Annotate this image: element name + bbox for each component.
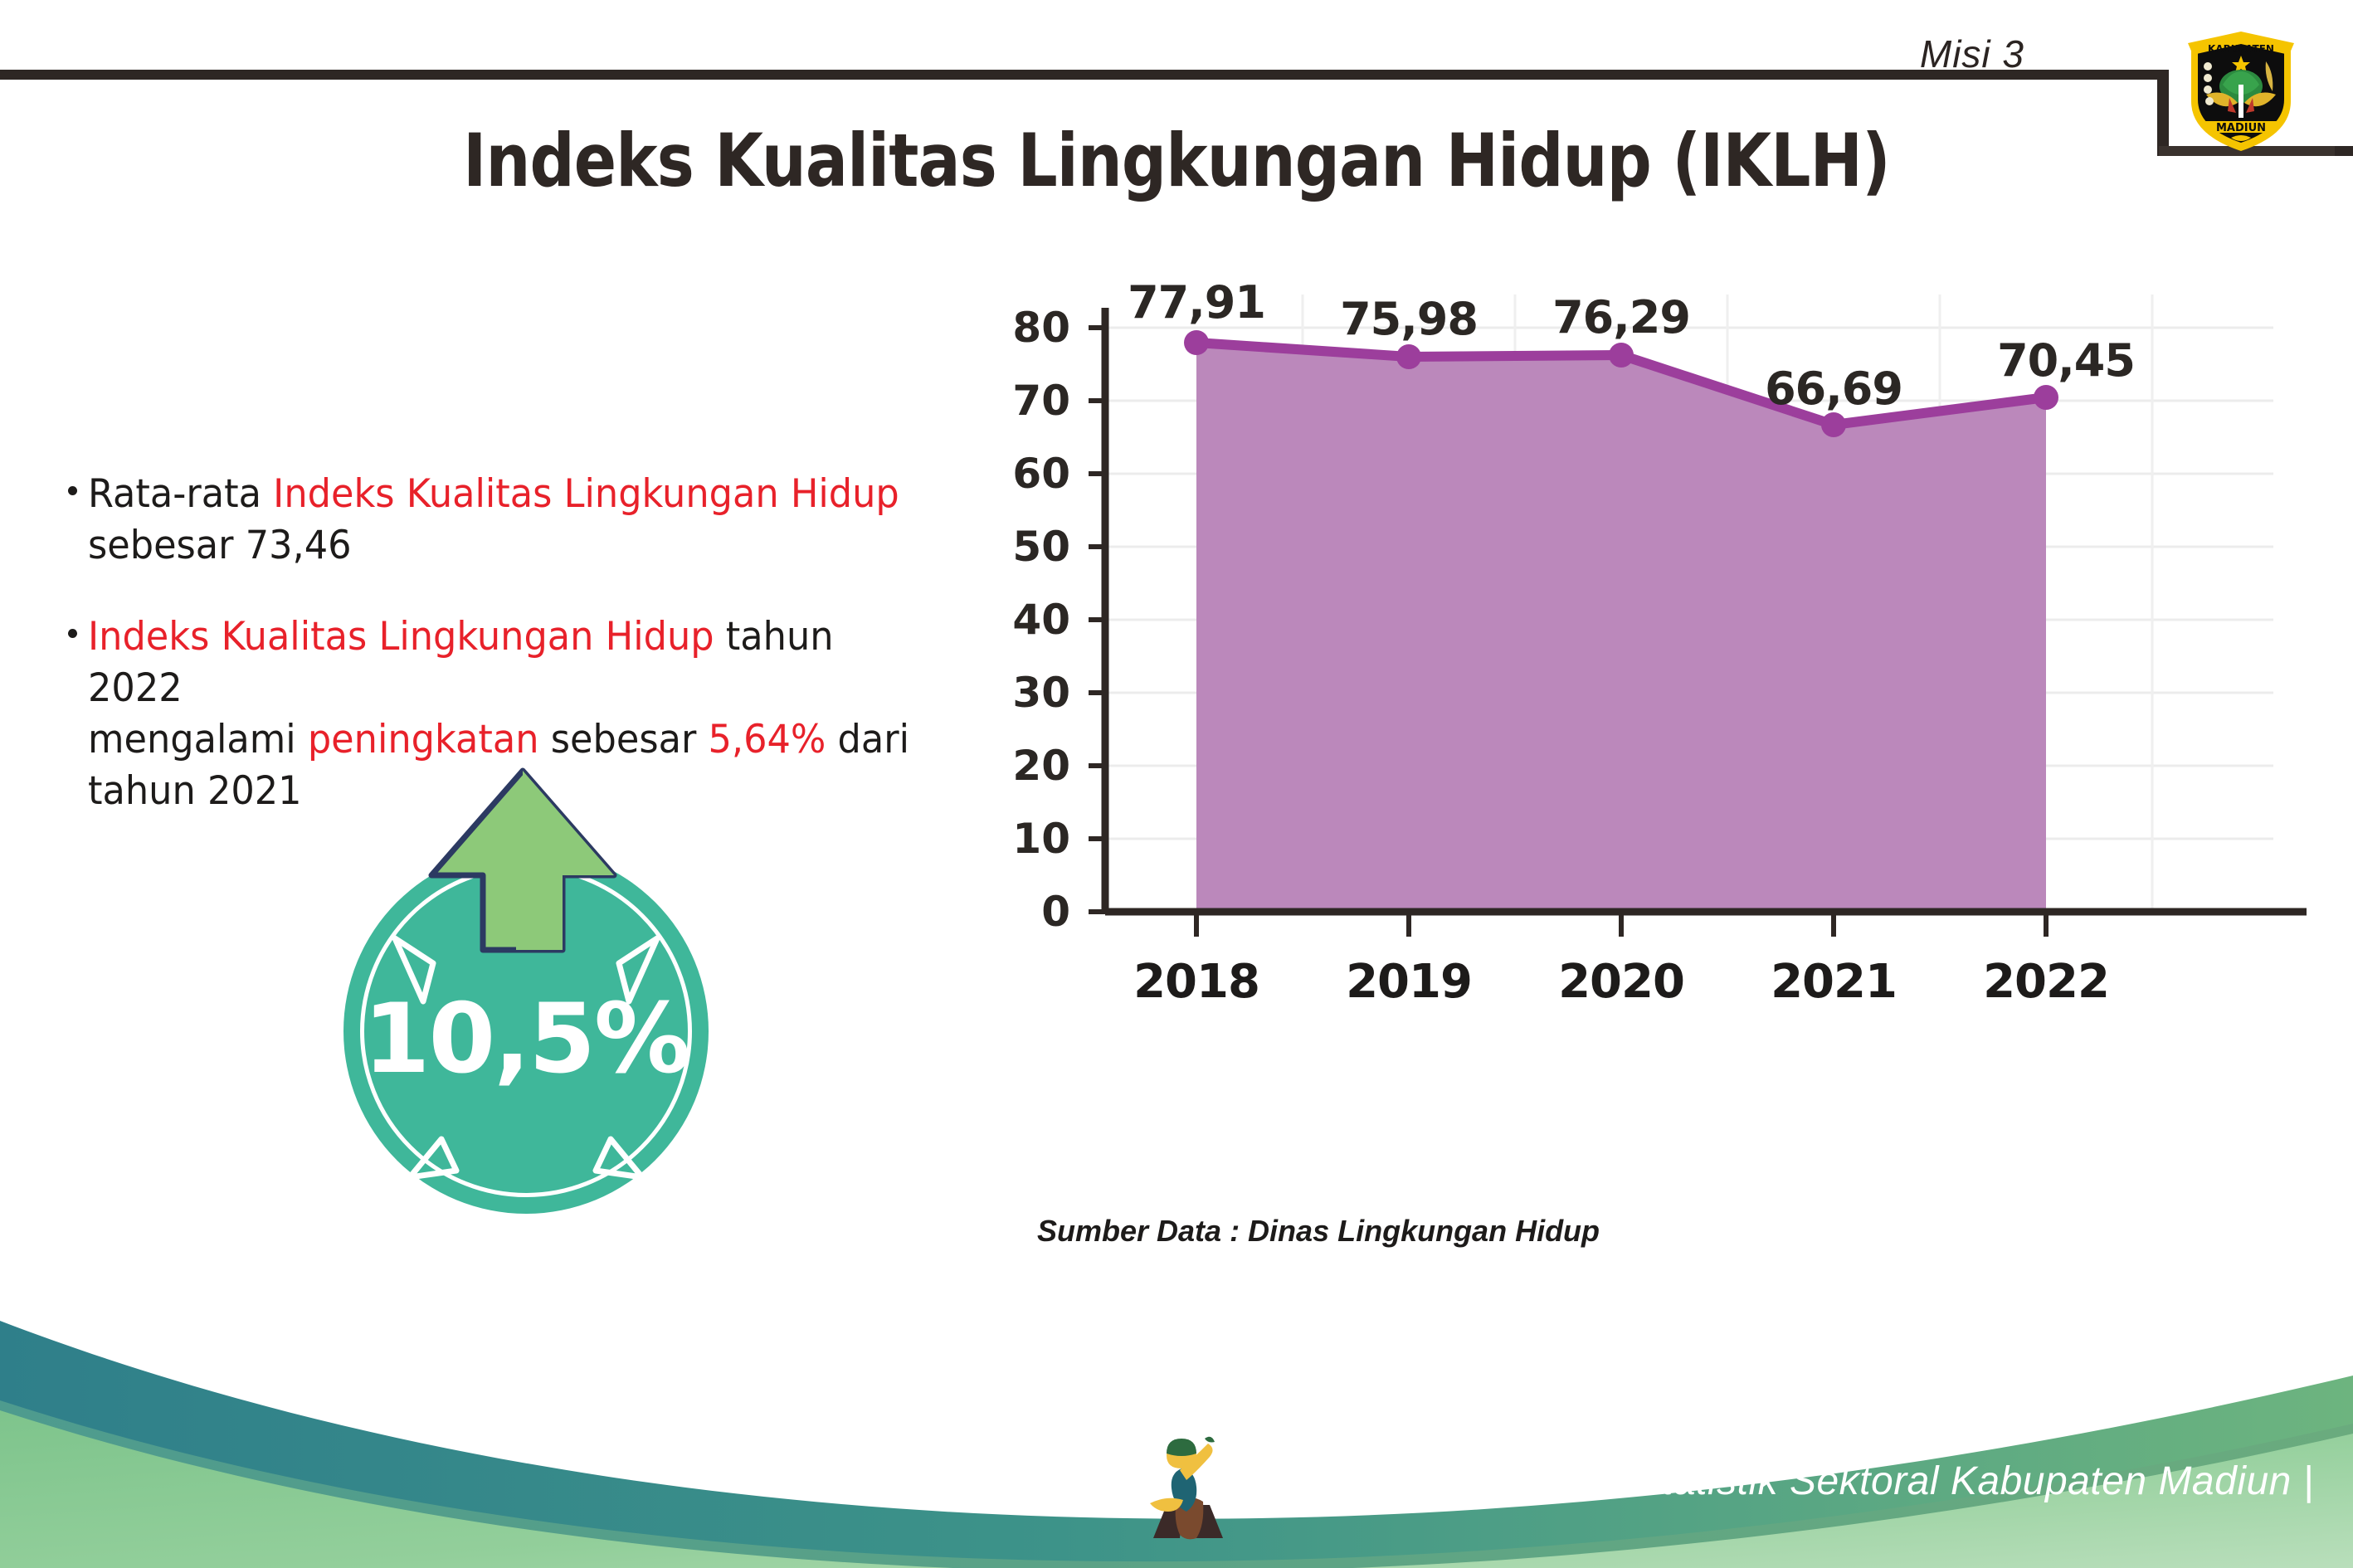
footer-text: Media Infografis Data Statistik Sektoral…: [1236, 1458, 2314, 1504]
increase-badge: 10,5%: [325, 751, 757, 1215]
chart-source-note: Sumber Data : Dinas Lingkungan Hidup: [1037, 1214, 1950, 1249]
data-label-2020: 76,29: [1497, 291, 1746, 343]
bullet-2-text-g: dari: [826, 717, 909, 762]
ytick-label-60: 60: [954, 450, 1070, 498]
data-label-2019: 75,98: [1284, 293, 1533, 345]
badge-value: 10,5%: [343, 983, 709, 1095]
ytick-label-30: 30: [954, 669, 1070, 717]
data-label-2021: 66,69: [1709, 363, 1958, 415]
bullet-1-text-a: Rata-rata: [88, 471, 273, 517]
bullet-dot-icon: [68, 629, 77, 638]
xtick-label-2022: 2022: [1938, 955, 2154, 1009]
bullet-1-text-b: Indeks Kualitas Lingkungan Hidup: [273, 471, 899, 517]
ytick-label-10: 10: [954, 815, 1070, 863]
ytick-label-0: 0: [954, 888, 1070, 936]
bullet-2-line-1: Indeks Kualitas Lingkungan Hidup tahun 2…: [88, 611, 934, 714]
ytick-label-20: 20: [954, 742, 1070, 790]
bullet-item-average: Rata-rata Indeks Kualitas Lingkungan Hid…: [66, 469, 979, 572]
bullet-1-line-1: Rata-rata Indeks Kualitas Lingkungan Hid…: [88, 469, 934, 520]
media-infografis-logo-icon: [1143, 1425, 1236, 1551]
xtick-label-2019: 2019: [1301, 955, 1517, 1009]
ytick-label-50: 50: [954, 523, 1070, 571]
bullet-dot-icon: [68, 486, 77, 495]
ytick-label-40: 40: [954, 596, 1070, 644]
bullet-1-line-2: sebesar 73,46: [88, 520, 934, 572]
xtick-label-2018: 2018: [1089, 955, 1304, 1009]
data-label-2022: 70,45: [1941, 334, 2190, 387]
xtick-label-2021: 2021: [1726, 955, 1941, 1009]
page-title: Indeks Kualitas Lingkungan Hidup (IKLH): [165, 118, 2189, 203]
misi-label: Misi 3: [1920, 32, 2024, 76]
iklh-area-chart: 80 70 60 50 40 30 20 10 0 2018 2019 2020…: [979, 295, 2307, 1249]
chart-canvas: [979, 295, 2307, 1249]
ytick-label-70: 70: [954, 377, 1070, 425]
xtick-label-2020: 2020: [1513, 955, 1729, 1009]
data-label-2018: 77,91: [1072, 276, 1321, 329]
kabupaten-madiun-emblem-icon: KABUPATEN MADIUN: [2173, 15, 2309, 156]
bullet-2-text-a: Indeks Kualitas Lingkungan Hidup: [88, 614, 714, 660]
svg-text:MADIUN: MADIUN: [2216, 122, 2266, 134]
svg-text:KABUPATEN: KABUPATEN: [2208, 43, 2274, 55]
bullet-2-text-c: mengalami: [88, 717, 308, 762]
ytick-label-80: 80: [954, 304, 1070, 352]
